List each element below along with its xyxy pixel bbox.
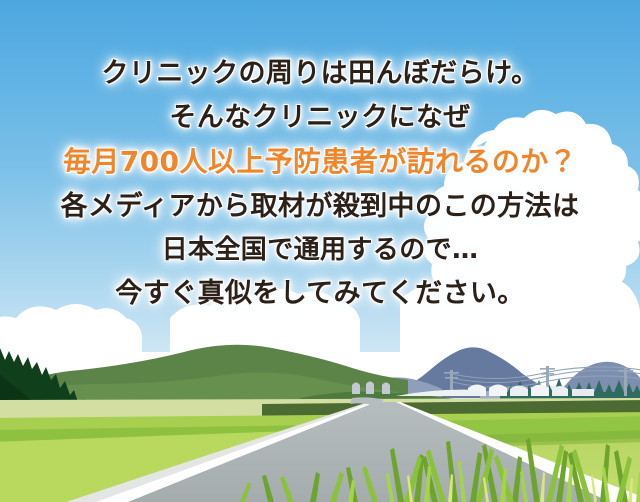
headline-line-2: そんなクリニックになぜ bbox=[0, 104, 640, 131]
greenhouse-4 bbox=[531, 385, 549, 397]
headline-line-4: 各メディアから取材が殺到中のこの方法は bbox=[0, 193, 640, 220]
greenhouse-5 bbox=[552, 386, 568, 396]
silo-1 bbox=[352, 383, 360, 395]
promo-banner: クリニックの周りは田んぼだらけ。 そんなクリニックになぜ 毎月700人以上予防患… bbox=[0, 0, 640, 502]
silo-2 bbox=[366, 382, 374, 395]
headline-line-3-accent: 毎月700人以上予防患者が訪れるのか？ bbox=[0, 148, 640, 176]
headline-line-1: クリニックの周りは田んぼだらけ。 bbox=[0, 60, 640, 87]
headline-copy-block: クリニックの周りは田んぼだらけ。 そんなクリニックになぜ 毎月700人以上予防患… bbox=[0, 60, 640, 324]
headline-line-5: 日本全国で通用するので… bbox=[0, 237, 640, 263]
headline-line-6: 今すぐ真似をしてみてください。 bbox=[0, 280, 640, 307]
silo-3 bbox=[382, 383, 390, 395]
pylon-right bbox=[624, 368, 627, 396]
silo-group-mid bbox=[352, 382, 390, 395]
farm-shed bbox=[572, 389, 594, 396]
greenhouse-2 bbox=[489, 385, 507, 397]
